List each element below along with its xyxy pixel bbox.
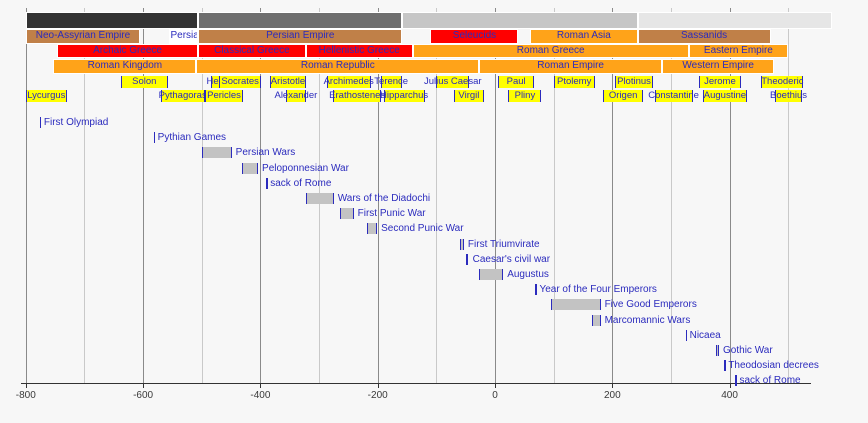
event-bar-wars-of-the-diadochi-5[interactable] — [306, 193, 334, 204]
person-label-pythagoras: Pythagoras — [159, 90, 207, 102]
x-tick-400 — [730, 383, 731, 388]
event-label-pythian-games-1: Pythian Games — [158, 132, 226, 143]
event-label-gothic-war-15: Gothic War — [723, 345, 773, 356]
x-tick--400 — [260, 383, 261, 388]
era-band-persian-empire[interactable]: Persian Empire — [169, 29, 198, 44]
era-band-roman-greece[interactable]: Roman Greece — [413, 44, 689, 58]
x-tick-200 — [612, 383, 613, 388]
person-label-ptolemy: Ptolemy — [557, 76, 591, 88]
gridline--800 — [26, 8, 27, 383]
person-label-archimedes: Archimedes — [324, 76, 374, 88]
event-label-wars-of-the-diadochi-5: Wars of the Diadochi — [338, 193, 430, 204]
gridline-500 — [788, 8, 789, 383]
era-band-general-periods-1[interactable] — [198, 12, 402, 29]
event-bar-peloponnesian-war-3[interactable] — [242, 163, 258, 174]
era-band-roman-asia[interactable]: Roman Asia — [530, 29, 637, 44]
x-tick--200 — [378, 383, 379, 388]
person-label-hipparchus: Hipparchus — [380, 90, 428, 102]
event-bar-first-punic-war-6[interactable] — [340, 208, 353, 219]
person-label-theoderic: Theoderic — [761, 76, 803, 88]
person-label-solon: Solon — [132, 76, 156, 88]
x-tick-label--600: -600 — [133, 390, 153, 401]
person-label-aristotle: Aristotle — [271, 76, 305, 88]
event-bar-marcomannic-wars-13[interactable] — [592, 315, 600, 326]
event-label-second-punic-war-7: Second Punic War — [381, 223, 463, 234]
person-label-julius-caesar: Julius Caesar — [424, 76, 482, 88]
person-label-plotinus: Plotinus — [617, 76, 651, 88]
event-label-theodosian-decrees-16: Theodosian decrees — [728, 360, 819, 371]
timeline-chart: -800-600-400-2000200400Neo-Assyrian Empi… — [0, 0, 868, 423]
era-band-roman-empire[interactable]: Roman Empire — [479, 59, 662, 74]
event-label-persian-wars-2: Persian Wars — [236, 147, 296, 158]
era-band-seleucids[interactable]: Seleucids — [430, 29, 518, 44]
event-label-nicaea-14: Nicaea — [690, 330, 721, 341]
person-label-lycurgus: Lycurgus — [27, 90, 65, 102]
era-band-archaic-greece[interactable]: Archaic Greece — [57, 44, 198, 58]
event-marker-pythian-games-1[interactable] — [154, 132, 156, 143]
person-label-erathostenes: Erathostenes — [329, 90, 385, 102]
x-tick-label-0: 0 — [492, 390, 498, 401]
x-tick--800 — [26, 383, 27, 388]
event-marker-first-olympiad-0[interactable] — [40, 117, 42, 128]
event-label-sack-of-rome-4: sack of Rome — [270, 178, 331, 189]
person-label-jerome: Jerome — [704, 76, 736, 88]
event-marker-sack-of-rome-4[interactable] — [266, 178, 268, 189]
x-tick-label--400: -400 — [250, 390, 270, 401]
event-bar-five-good-emperors-12[interactable] — [551, 299, 600, 310]
x-tick-label--800: -800 — [16, 390, 36, 401]
person-label-boethius: Boethius — [770, 90, 807, 102]
era-band-general-periods-0[interactable] — [26, 12, 198, 29]
person-label-constantine: Constantine — [648, 90, 699, 102]
era-band-general-periods-2[interactable] — [402, 12, 637, 29]
x-tick-label-200: 200 — [604, 390, 621, 401]
event-bar-gothic-war-15[interactable] — [716, 345, 720, 356]
event-label-first-olympiad-0: First Olympiad — [44, 117, 108, 128]
person-label-paul: Paul — [507, 76, 526, 88]
person-label-origen: Origen — [609, 90, 638, 102]
person-label-pericles: Pericles — [207, 90, 241, 102]
event-label-peloponnesian-war-3: Peloponnesian War — [262, 163, 349, 174]
event-label-caesar-s-civil-war-9: Caesar's civil war — [473, 254, 550, 265]
event-bar-second-punic-war-7[interactable] — [367, 223, 377, 234]
era-band-hellenistic-greece[interactable]: Hellenistic Greece — [306, 44, 413, 58]
era-band-persian-empire[interactable]: Persian Empire — [198, 29, 402, 44]
event-marker-caesar-s-civil-war-9[interactable] — [466, 254, 468, 265]
person-label-augustine: Augustine — [704, 90, 746, 102]
event-marker-nicaea-14[interactable] — [686, 330, 688, 341]
x-tick-label-400: 400 — [721, 390, 738, 401]
person-label-alexander: Alexander — [274, 90, 317, 102]
event-bar-persian-wars-2[interactable] — [202, 147, 231, 158]
era-band-roman-republic[interactable]: Roman Republic — [196, 59, 479, 74]
era-band-neo-assyrian-empire[interactable]: Neo-Assyrian Empire — [26, 29, 140, 44]
person-label-terence: Terence — [374, 76, 408, 88]
era-band-general-periods-3[interactable] — [638, 12, 832, 29]
event-label-first-triumvirate-8: First Triumvirate — [468, 239, 540, 250]
person-label-virgil: Virgil — [458, 90, 479, 102]
event-marker-sack-of-rome-17[interactable] — [735, 375, 737, 386]
x-tick-0 — [495, 383, 496, 388]
person-label-socrates: Socrates — [221, 76, 259, 88]
event-label-first-punic-war-6: First Punic War — [358, 208, 426, 219]
x-tick-label--200: -200 — [368, 390, 388, 401]
person-label-pliny: Pliny — [515, 90, 536, 102]
event-label-five-good-emperors-12: Five Good Emperors — [605, 299, 697, 310]
era-band-eastern-empire[interactable]: Eastern Empire — [689, 44, 789, 58]
era-band-sassanids[interactable]: Sassanids — [638, 29, 771, 44]
event-label-augustus-10: Augustus — [507, 269, 549, 280]
event-label-marcomannic-wars-13: Marcomannic Wars — [605, 315, 691, 326]
x-axis — [21, 383, 811, 384]
event-marker-year-of-the-four-emperors-11[interactable] — [535, 284, 537, 295]
event-marker-theodosian-decrees-16[interactable] — [724, 360, 726, 371]
era-band-classical-greece[interactable]: Classical Greece — [198, 44, 305, 58]
era-band-western-empire[interactable]: Western Empire — [662, 59, 774, 74]
event-bar-augustus-10[interactable] — [479, 269, 503, 280]
event-label-year-of-the-four-emperors-11: Year of the Four Emperors — [539, 284, 656, 295]
x-tick--600 — [143, 383, 144, 388]
event-bar-first-triumvirate-8[interactable] — [460, 239, 464, 250]
event-label-sack-of-rome-17: sack of Rome — [739, 375, 800, 386]
era-band-roman-kingdom[interactable]: Roman Kingdom — [53, 59, 196, 74]
